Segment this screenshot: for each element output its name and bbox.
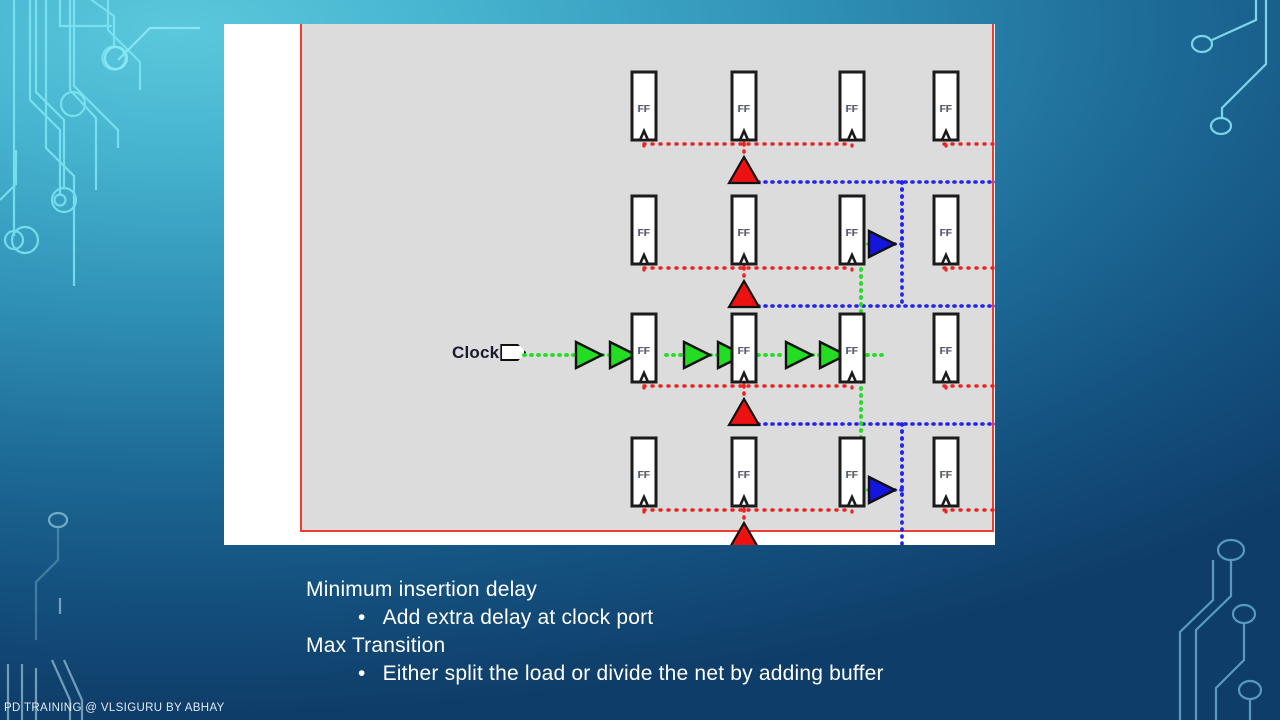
clock-buffer-row4-col2 (729, 523, 759, 545)
bullet-text: Either split the load or divide the net … (383, 660, 884, 688)
level1-buffer-lower (869, 477, 895, 503)
flipflop-r3c2 (732, 314, 756, 382)
flipflop-r3c3 (840, 314, 864, 382)
bullet-text: Add extra delay at clock port (383, 604, 654, 632)
text-line-minimum-insertion-delay: Minimum insertion delay (306, 576, 1206, 604)
flipflop-r1c2 (732, 72, 756, 140)
clock-buffer-row3-col2 (729, 399, 759, 425)
flipflop-r3c1 (632, 314, 656, 382)
diagram-image-panel: Clock FF FF (224, 24, 995, 545)
root-buffer-1 (576, 342, 602, 368)
slide-footer: PD TRAINING @ VLSIGURU BY ABHAY (4, 702, 225, 714)
flipflop-r1c1 (632, 72, 656, 140)
flipflop-r1c4 (934, 72, 958, 140)
bullet-split-load: • Either split the load or divide the ne… (358, 660, 1206, 688)
root-buffer-5 (786, 342, 812, 368)
flipflop-r4c4 (934, 438, 958, 506)
clock-buffer-row2-col2 (729, 281, 759, 307)
level1-buffer-upper (869, 231, 895, 257)
bullet-glyph-icon: • (358, 604, 366, 632)
bullet-add-extra-delay: • Add extra delay at clock port (358, 604, 1206, 632)
bullet-glyph-icon: • (358, 660, 366, 688)
flipflop-r3c4 (934, 314, 958, 382)
flipflop-r4c3 (840, 438, 864, 506)
flipflop-r2c2 (732, 196, 756, 264)
clock-tree-netlist: FF FF (224, 24, 995, 545)
slide-body-text: Minimum insertion delay • Add extra dela… (306, 576, 1206, 688)
flipflop-r4c2 (732, 438, 756, 506)
flipflop-r2c4 (934, 196, 958, 264)
flipflop-r2c3 (840, 196, 864, 264)
clock-buffer-row1-col2 (729, 157, 759, 183)
flipflop-r2c1 (632, 196, 656, 264)
slide-canvas: Clock FF FF (0, 0, 1280, 720)
flipflop-r4c1 (632, 438, 656, 506)
text-line-max-transition: Max Transition (306, 632, 1206, 660)
flipflop-r1c3 (840, 72, 864, 140)
root-buffer-3 (684, 342, 710, 368)
